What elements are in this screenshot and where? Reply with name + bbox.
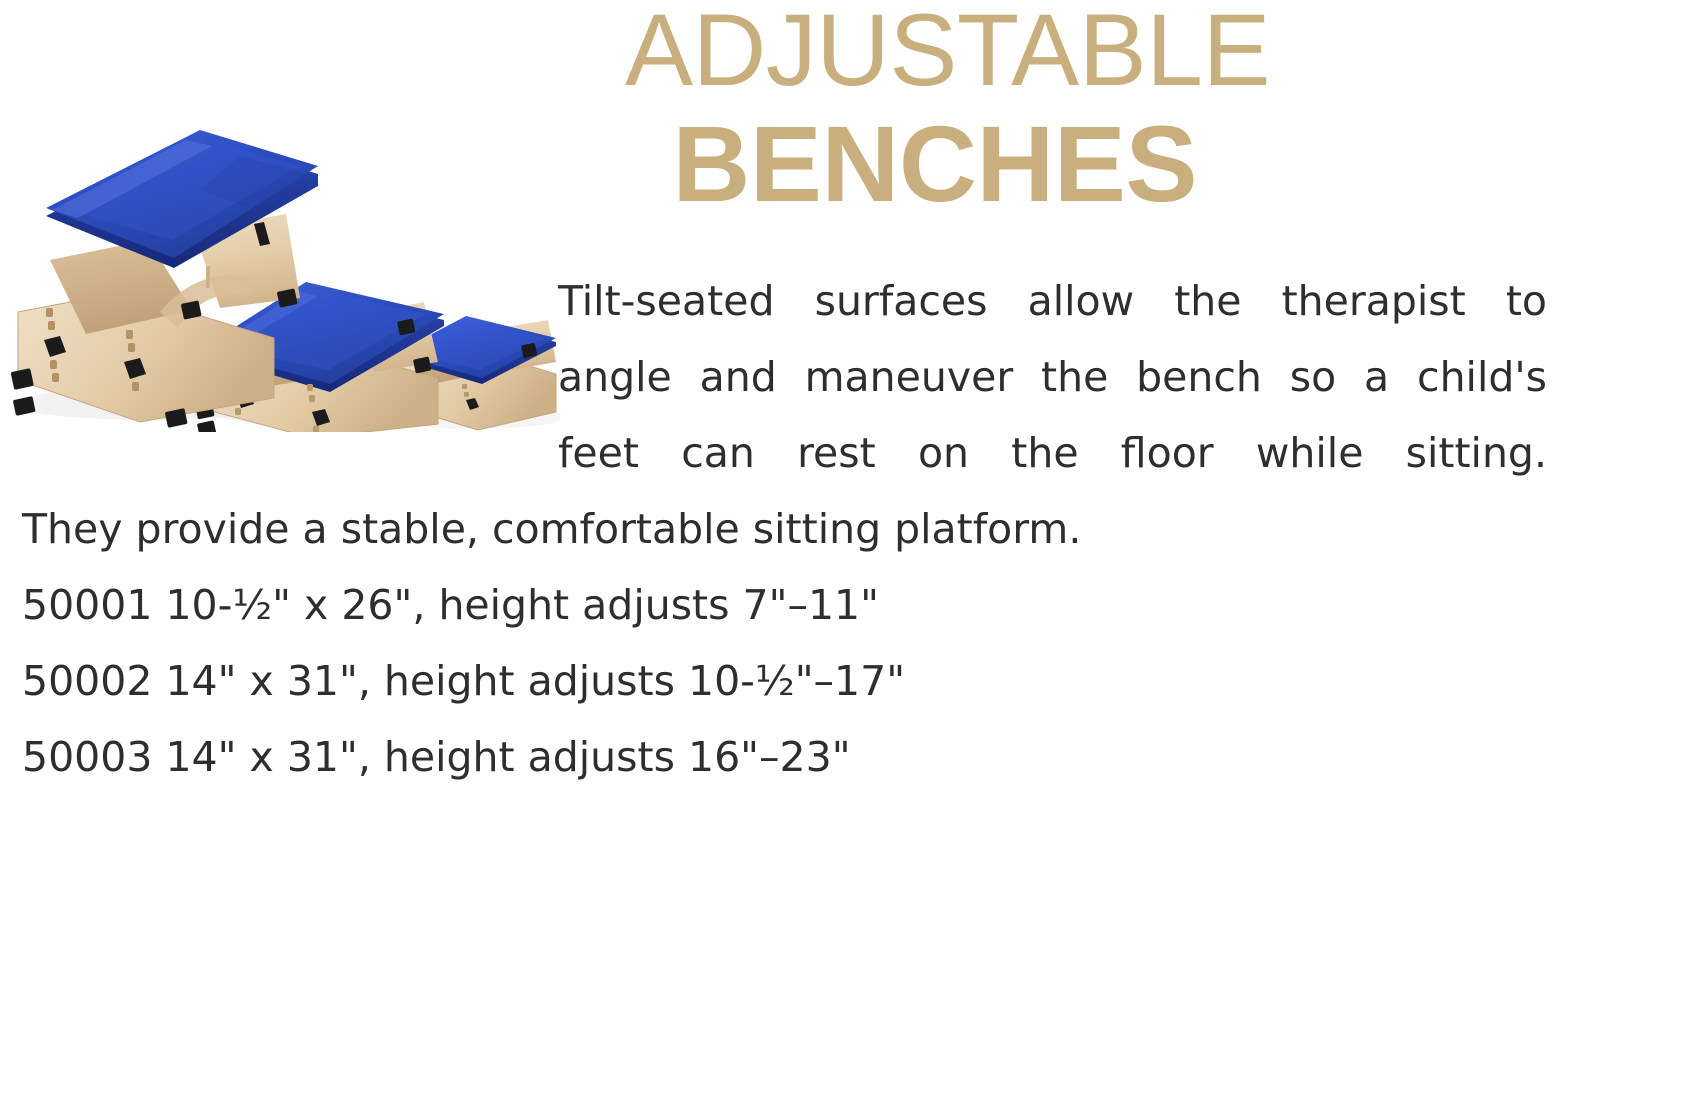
page-canvas: ADJUSTABLE BENCHES [0,0,1690,1108]
product-spec-50002: 50002 14" x 31", height adjusts 10-½"–17… [22,643,1547,719]
page-title-line-1: ADJUSTABLE [560,2,1560,99]
page-title-line-2: BENCHES [560,113,1560,216]
product-description: Tilt-seated surfaces allow the therapist… [22,263,1547,795]
intro-line-4: They provide a stable, comfortable sitti… [22,491,1547,567]
product-spec-50001: 50001 10-½" x 26", height adjusts 7"–11" [22,567,1547,643]
product-spec-50003: 50003 14" x 31", height adjusts 16"–23" [22,719,1547,795]
photo-text-wrap-shim [22,263,558,491]
page-title: ADJUSTABLE BENCHES [560,2,1560,215]
